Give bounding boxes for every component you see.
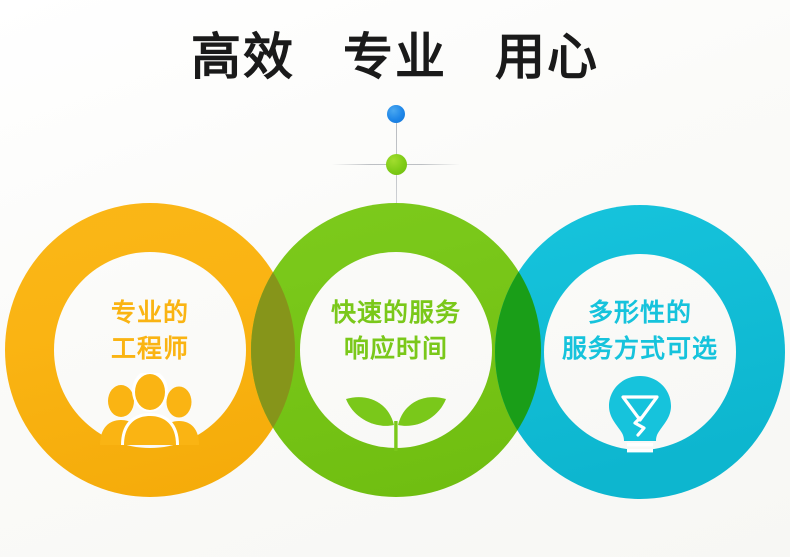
poster-root: 高效专业用心 [0,0,790,557]
overlap-green-cyan [0,0,790,557]
venn-rings-graphic [0,0,790,557]
